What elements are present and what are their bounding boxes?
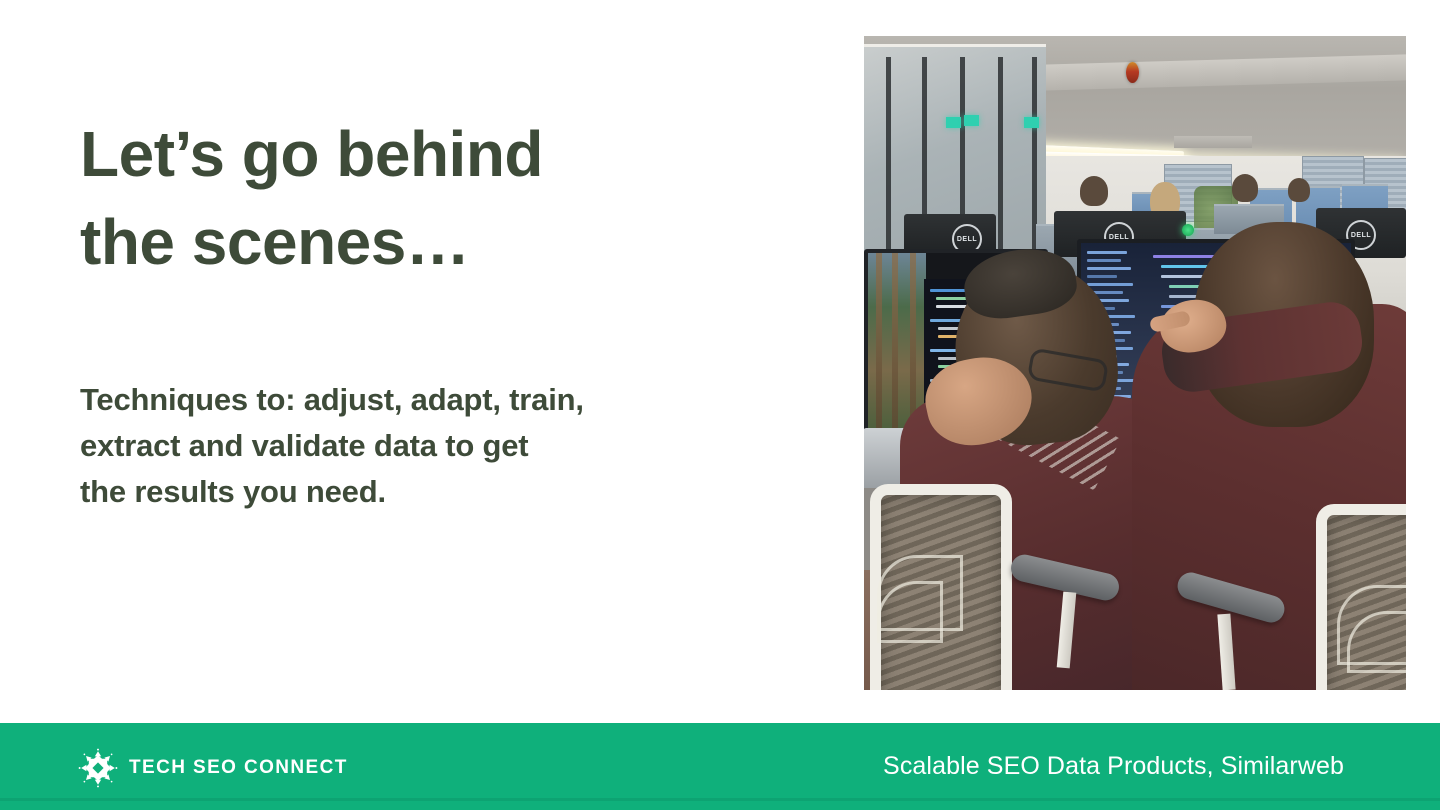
background-person	[1080, 176, 1108, 206]
footer-divider	[0, 798, 1440, 801]
monitor-wallpaper	[868, 253, 926, 433]
slide-subtitle: Techniques to: adjust, adapt, train, ext…	[80, 377, 680, 515]
door-header	[1174, 136, 1252, 148]
brand-logo[interactable]: TECH SEO CONNECT	[78, 748, 348, 788]
code-line	[1087, 275, 1117, 278]
code-line	[1087, 267, 1131, 270]
monitor-power-led	[1182, 224, 1194, 236]
exit-sign-icon	[1024, 117, 1039, 128]
ceiling-ornament-icon	[1126, 62, 1139, 83]
brand-logo-text: TECH SEO CONNECT	[129, 757, 348, 779]
wallpaper-tree	[892, 253, 898, 433]
background-person	[1232, 174, 1258, 202]
office-photo: DELL DELL DELL	[864, 36, 1406, 690]
exit-sign-icon	[946, 117, 961, 128]
code-line	[1087, 251, 1127, 254]
footer-session-title: Scalable SEO Data Products, Similarweb	[883, 752, 1344, 781]
tech-seo-connect-snowflake-icon	[78, 748, 118, 788]
slide-root: Let’s go behind the scenes… Techniques t…	[0, 0, 1440, 810]
page-title: Let’s go behind the scenes…	[80, 110, 700, 287]
wallpaper-tree	[910, 253, 916, 433]
code-line	[1087, 283, 1133, 286]
wallpaper-tree	[876, 253, 882, 433]
background-person	[1288, 178, 1310, 202]
code-line	[1087, 259, 1121, 262]
photo-content: DELL DELL DELL	[864, 36, 1406, 690]
text-column: Let’s go behind the scenes… Techniques t…	[80, 110, 700, 287]
office-chair-right	[1316, 504, 1406, 690]
exit-sign-icon	[964, 115, 979, 126]
office-chair-left	[870, 484, 1012, 690]
